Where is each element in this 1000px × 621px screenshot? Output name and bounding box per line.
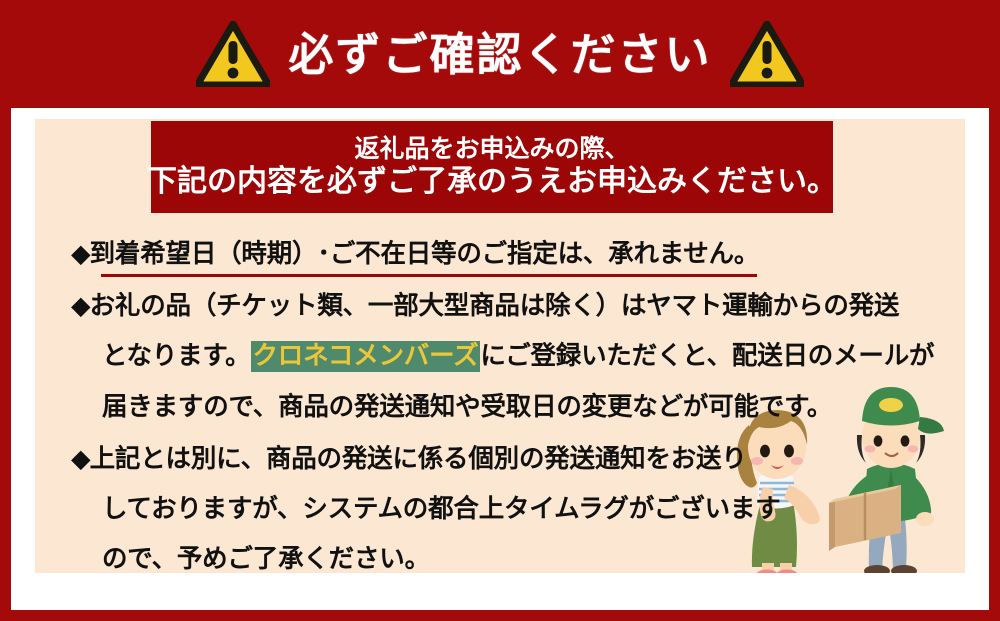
bullet-diamond-icon: ◆	[71, 240, 90, 268]
notice-line: しておりますが、システムの都合上タイムラグがございます	[71, 484, 971, 534]
notice-line: ◆お礼の品（チケット類、一部大型商品は除く）はヤマト運輸からの発送	[71, 281, 971, 331]
notice-line: ◆上記とは別に、商品の発送に係る個別の発送通知をお送り	[71, 434, 971, 484]
page-title: 必ずご確認ください	[288, 32, 711, 77]
notice-text: ので、予めご了承ください。	[102, 545, 430, 573]
notice-item: ◆到着希望日（時期）･ご不在日等のご指定は、承れません。	[71, 229, 971, 279]
bullet-diamond-icon: ◆	[71, 445, 90, 473]
notice-banner: 必ずご確認ください	[0, 0, 1000, 621]
notice-item: ◆上記とは別に、商品の発送に係る個別の発送通知をお送り しておりますが、システム…	[71, 434, 971, 585]
notice-text: となります。	[102, 342, 251, 370]
notice-item: ◆お礼の品（チケット類、一部大型商品は除く）はヤマト運輸からの発送 となります。…	[71, 281, 971, 432]
warning-triangle-icon	[196, 21, 270, 87]
notice-list: ◆到着希望日（時期）･ご不在日等のご指定は、承れません。 ◆お礼の品（チケット類…	[71, 229, 971, 587]
kuroneko-members-highlight[interactable]: クロネコメンバーズ	[251, 341, 481, 372]
banner-header: 必ずご確認ください	[0, 0, 1000, 108]
notice-text: 到着希望日（時期）･ご不在日等のご指定は、承れません。	[90, 240, 760, 268]
subheader-line-2: 下記の内容を必ずご了承のうえお申込みください。	[147, 164, 837, 199]
notice-text: 届きますので、商品の発送通知や受取日の変更などが可能です。	[102, 393, 832, 421]
panel-floor	[35, 573, 965, 595]
notice-text: 上記とは別に、商品の発送に係る個別の発送通知をお送り	[90, 445, 747, 473]
underlined-notice: ◆到着希望日（時期）･ご不在日等のご指定は、承れません。	[71, 229, 759, 279]
subheader-line-1: 返礼品をお申込みの際、	[354, 135, 629, 165]
notice-text: お礼の品（チケット類、一部大型商品は除く）はヤマト運輸からの発送	[90, 292, 900, 320]
notice-line: となります。クロネコメンバーズにご登録いただくと、配送日のメールが	[71, 331, 971, 381]
notice-line: 届きますので、商品の発送通知や受取日の変更などが可能です。	[71, 382, 971, 432]
notice-line: ◆到着希望日（時期）･ご不在日等のご指定は、承れません。	[71, 229, 971, 279]
bullet-diamond-icon: ◆	[71, 292, 90, 320]
subheader-block: 返礼品をお申込みの際、 下記の内容を必ずご了承のうえお申込みください。	[151, 121, 833, 213]
warning-triangle-icon	[730, 21, 804, 87]
notice-text: しておりますが、システムの都合上タイムラグがございます	[102, 495, 781, 523]
notice-text: にご登録いただくと、配送日のメールが	[480, 342, 934, 370]
